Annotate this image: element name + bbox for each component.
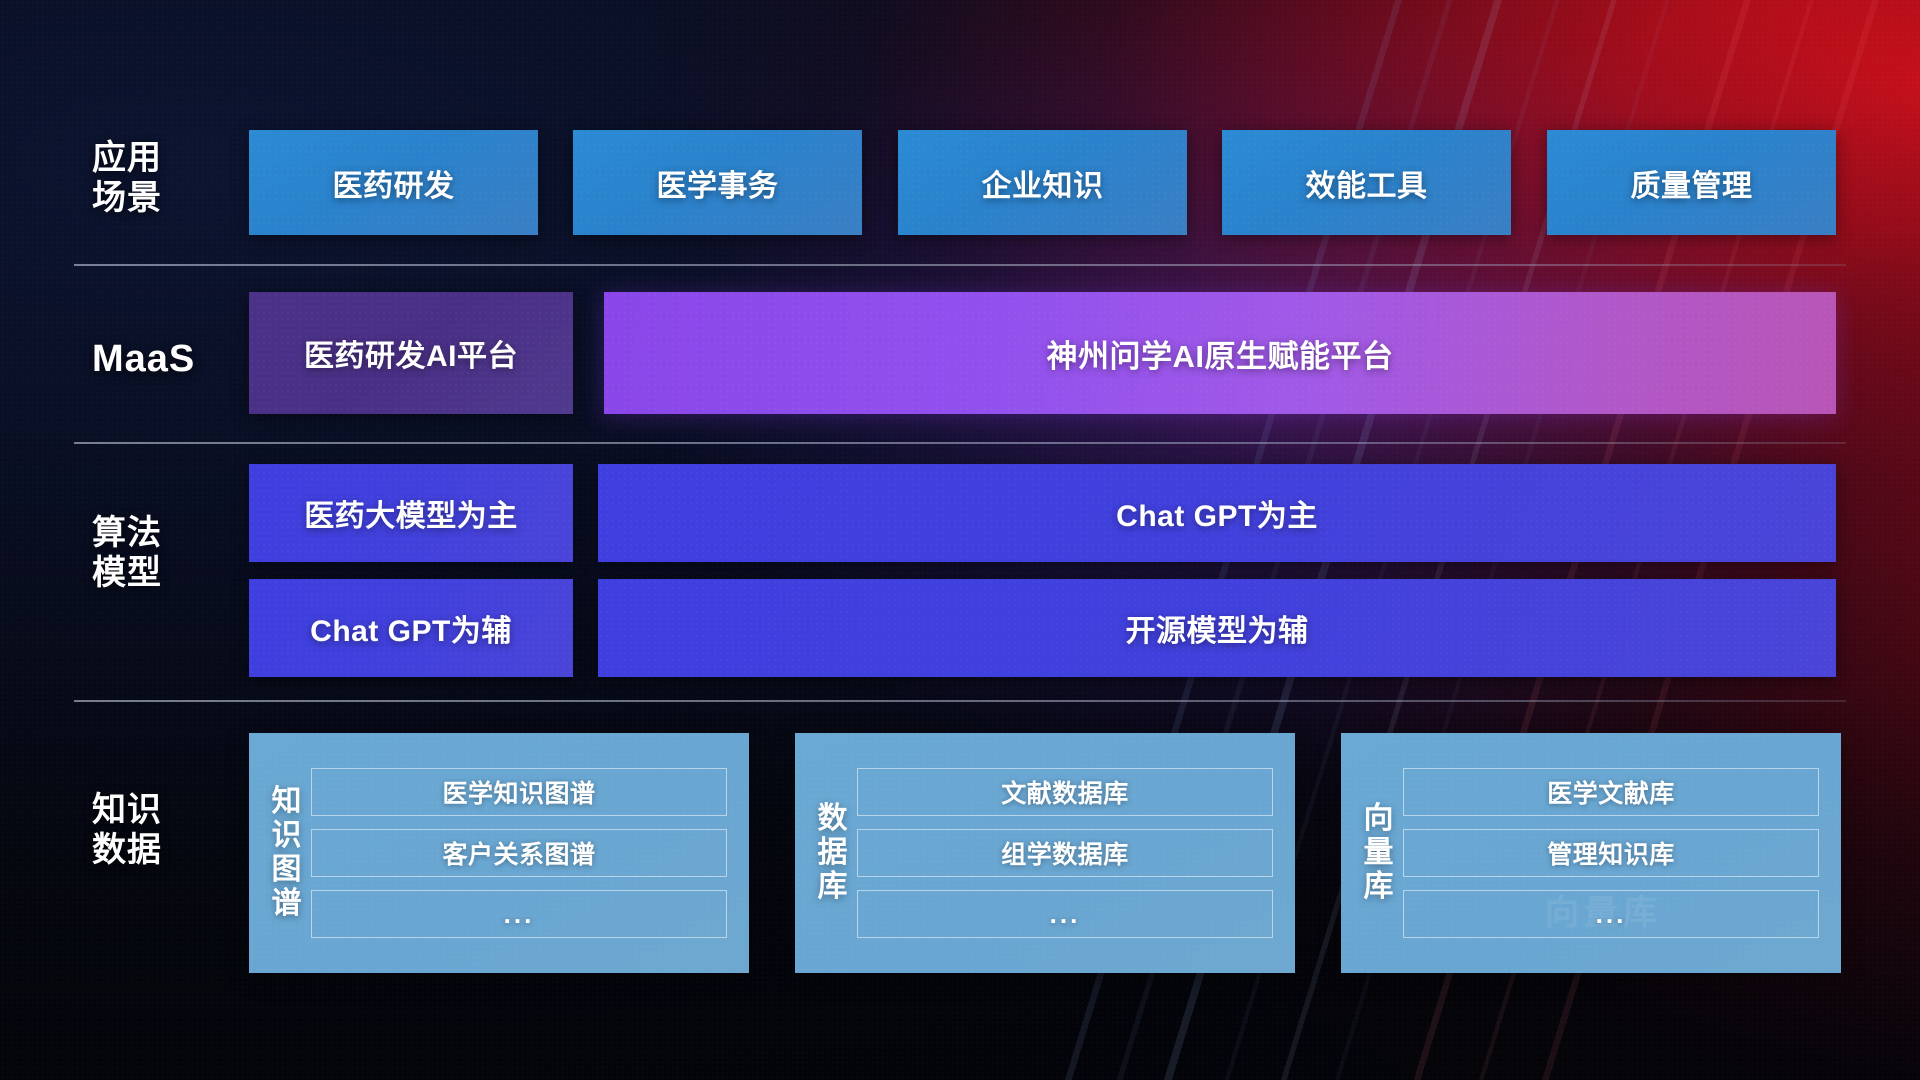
- row-divider-1: [74, 264, 1846, 266]
- diagram-content: 应用 场景 医药研发 医学事务 企业知识 效能工具 质量管理 MaaS 医药研发…: [0, 0, 1920, 1080]
- panel-item[interactable]: 客户关系图谱: [311, 829, 727, 877]
- algo-box-chatgpt-secondary[interactable]: Chat GPT为辅: [249, 579, 573, 677]
- row-divider-2: [74, 442, 1846, 444]
- app-box-label: 效能工具: [1306, 161, 1428, 205]
- panel-item[interactable]: 管理知识库: [1403, 829, 1819, 877]
- panel-item-list: 医学文献库 管理知识库 ...: [1403, 768, 1819, 938]
- diagram-canvas: 应用 场景 医药研发 医学事务 企业知识 效能工具 质量管理 MaaS 医药研发…: [0, 0, 1920, 1080]
- algo-box-pharma-llm-primary[interactable]: 医药大模型为主: [249, 464, 573, 562]
- row-label-knowledge-data: 知识 数据: [92, 790, 242, 870]
- panel-vertical-label: 数据库: [809, 802, 857, 905]
- row-divider-3: [74, 700, 1846, 702]
- panel-item[interactable]: 文献数据库: [857, 768, 1273, 816]
- row-label-line-2: 数据: [92, 830, 242, 870]
- panel-item[interactable]: 医学知识图谱: [311, 768, 727, 816]
- knowledge-panel-database[interactable]: 数据库 文献数据库 组学数据库 ...: [795, 733, 1295, 973]
- app-box-label: 企业知识: [982, 161, 1104, 205]
- panel-item[interactable]: 医学文献库: [1403, 768, 1819, 816]
- algo-box-label: Chat GPT为主: [1116, 491, 1318, 535]
- panel-item-list: 文献数据库 组学数据库 ...: [857, 768, 1273, 938]
- row-label-line-1: 知识: [92, 790, 242, 830]
- maas-box-drug-rd-ai-platform[interactable]: 医药研发AI平台: [249, 292, 573, 414]
- algo-box-label: 医药大模型为主: [304, 491, 518, 535]
- app-box-quality-management[interactable]: 质量管理: [1547, 130, 1836, 235]
- panel-item-list: 医学知识图谱 客户关系图谱 ...: [311, 768, 727, 938]
- algo-box-chatgpt-primary[interactable]: Chat GPT为主: [598, 464, 1836, 562]
- panel-item-more[interactable]: ...: [857, 890, 1273, 938]
- row-label-application-scenarios: 应用 场景: [92, 138, 242, 218]
- app-box-label: 医药研发: [333, 161, 455, 205]
- app-box-drug-rd[interactable]: 医药研发: [249, 130, 538, 235]
- algo-box-label: Chat GPT为辅: [310, 606, 512, 650]
- row-label-line-1: 应用: [92, 138, 242, 178]
- panel-vertical-label: 知识图谱: [263, 785, 311, 922]
- row-label-line-2: 场景: [92, 178, 242, 218]
- panel-item-more[interactable]: ...: [311, 890, 727, 938]
- algo-box-label: 开源模型为辅: [1126, 606, 1309, 650]
- app-box-medical-affairs[interactable]: 医学事务: [573, 130, 862, 235]
- app-box-enterprise-knowledge[interactable]: 企业知识: [898, 130, 1187, 235]
- panel-item[interactable]: 组学数据库: [857, 829, 1273, 877]
- row-label-maas: MaaS: [92, 337, 242, 382]
- row-label-line-2: 模型: [92, 553, 242, 593]
- maas-box-label: 神州问学AI原生赋能平台: [1047, 331, 1394, 376]
- row-label-line-1: 算法: [92, 513, 242, 553]
- knowledge-panel-vector-store[interactable]: 向量库 医学文献库 管理知识库 ...: [1341, 733, 1841, 973]
- panel-vertical-label: 向量库: [1355, 802, 1403, 905]
- app-box-label: 质量管理: [1631, 161, 1753, 205]
- maas-box-label: 医药研发AI平台: [304, 331, 518, 375]
- app-box-label: 医学事务: [657, 161, 779, 205]
- row-label-line-1: MaaS: [92, 337, 242, 382]
- row-label-algorithm-model: 算法 模型: [92, 513, 242, 593]
- knowledge-panel-knowledge-graph[interactable]: 知识图谱 医学知识图谱 客户关系图谱 ...: [249, 733, 749, 973]
- app-box-efficiency-tools[interactable]: 效能工具: [1222, 130, 1511, 235]
- panel-item-more[interactable]: ...: [1403, 890, 1819, 938]
- algo-box-opensource-secondary[interactable]: 开源模型为辅: [598, 579, 1836, 677]
- maas-box-shenzhou-wenxue-platform[interactable]: 神州问学AI原生赋能平台: [604, 292, 1836, 414]
